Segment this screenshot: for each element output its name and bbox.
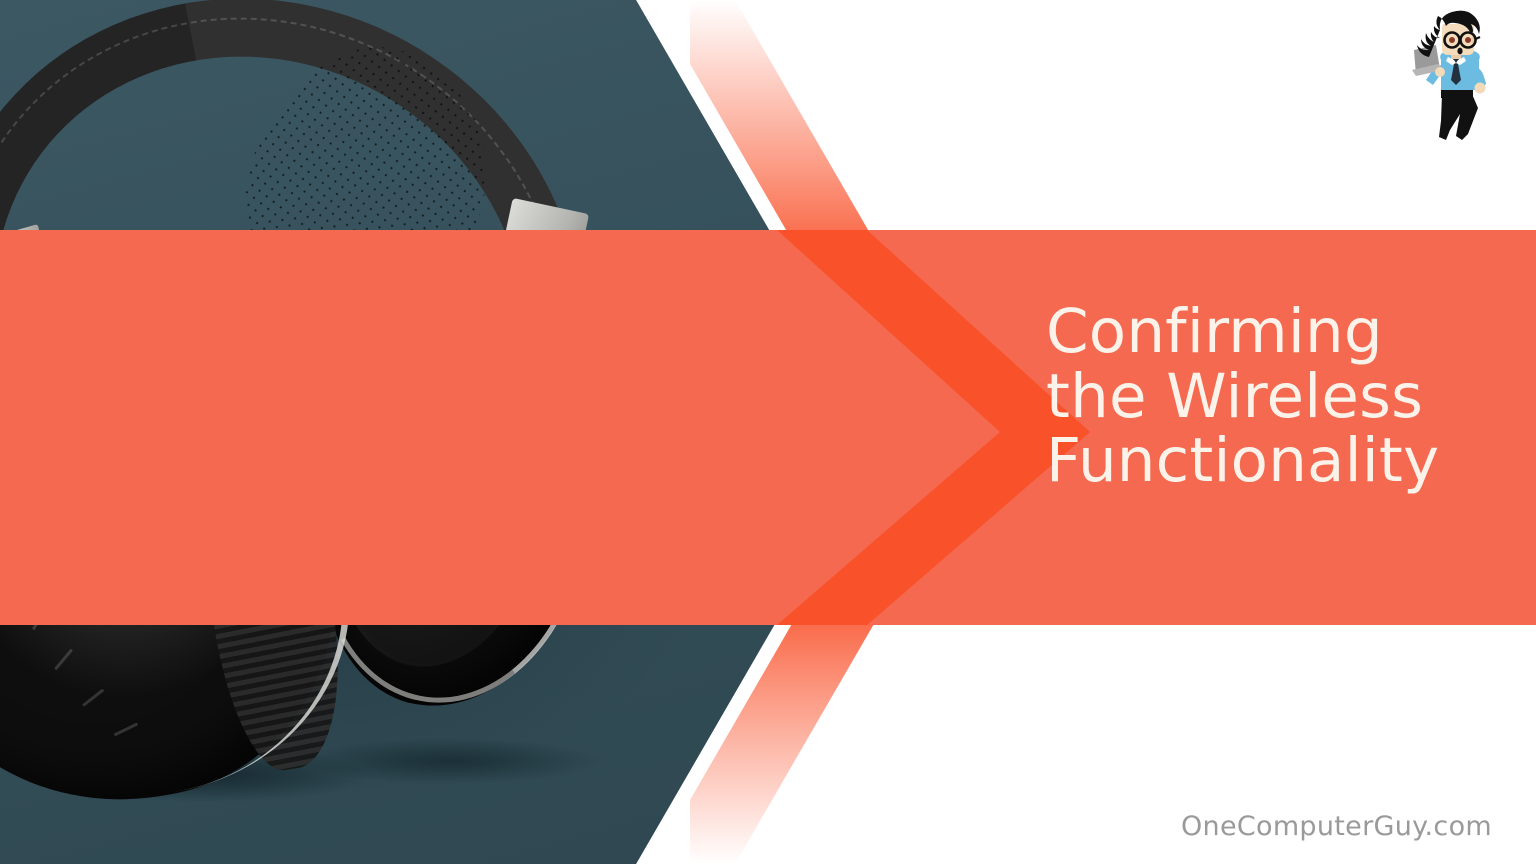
onecomputerguy-mascot-logo	[1404, 8, 1508, 144]
site-credit: OneComputerGuy.com	[1181, 811, 1492, 842]
page-title: Confirming the Wireless Functionality	[1046, 300, 1466, 494]
chevron-right-icon-band	[660, 230, 1100, 625]
wireless-functionality-banner: HEADPHONE	[0, 0, 1536, 864]
